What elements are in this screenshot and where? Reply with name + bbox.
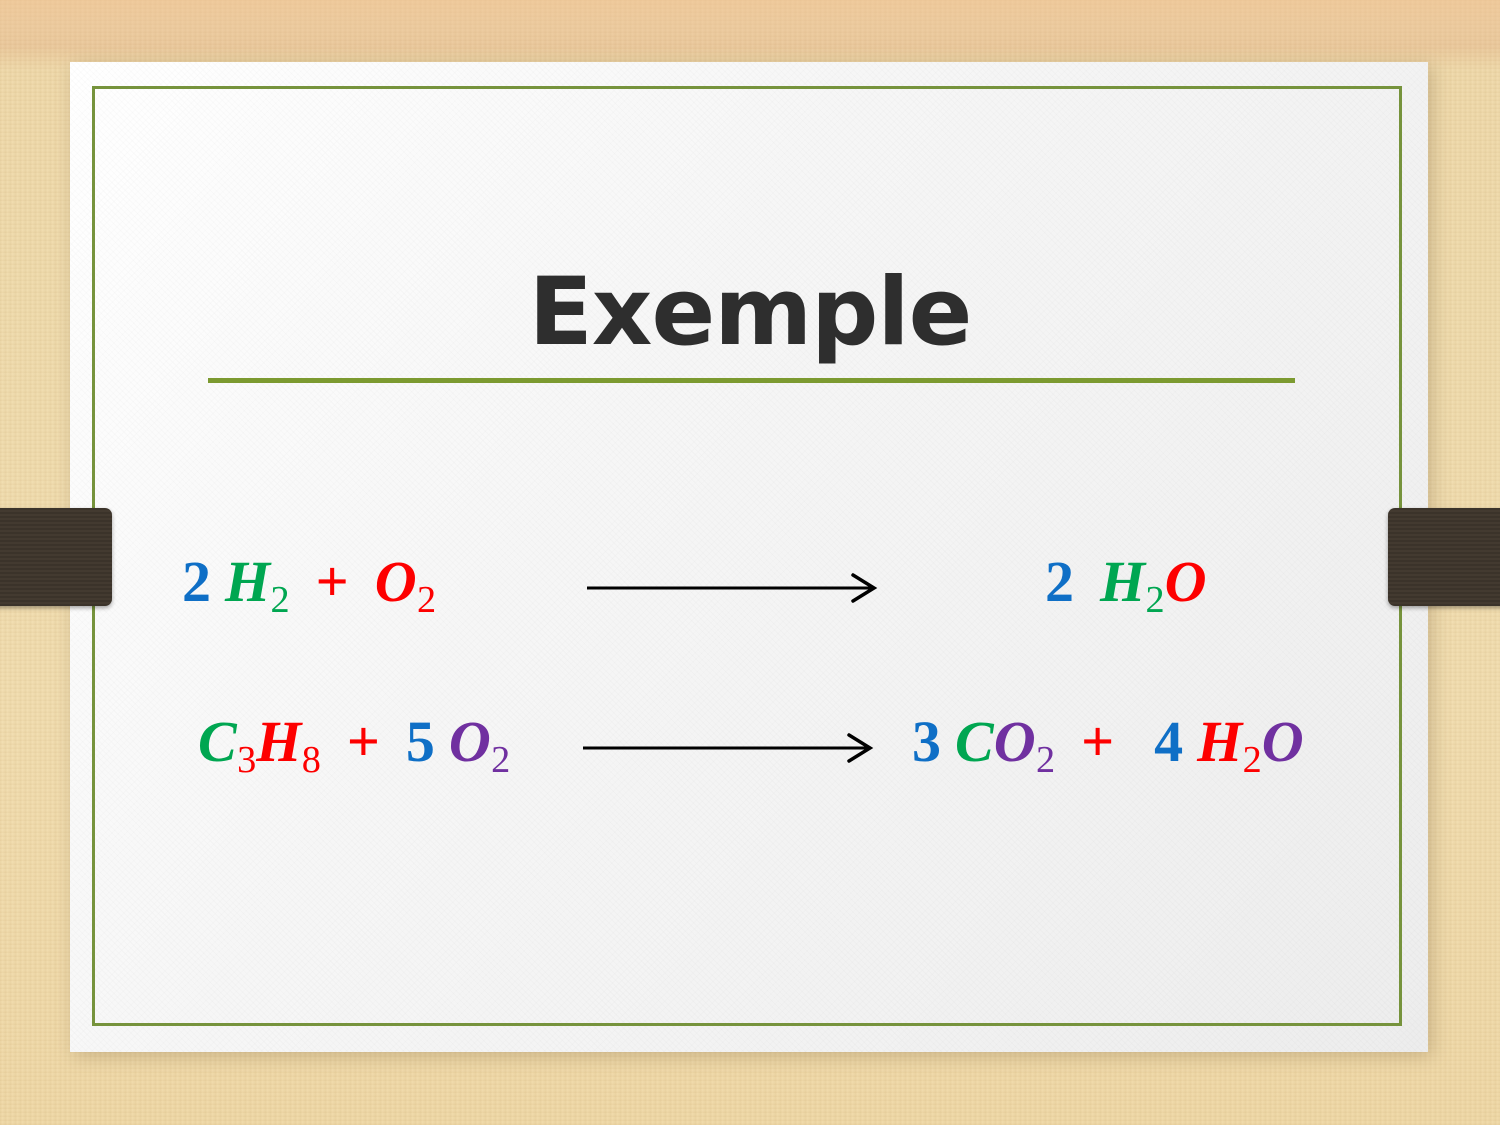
eq2-coefficient-o2: 5 xyxy=(406,709,435,774)
eq2-product-subscript-o: 2 xyxy=(1036,739,1055,781)
eq2-operator-plus-2: + xyxy=(1081,709,1114,774)
slide: Exemple 2H2+O2 2H2O C3H8+5O2 3CO2+4H2O xyxy=(0,0,1500,1125)
equation-2-products: 3CO2+4H2O xyxy=(912,713,1304,780)
eq1-operator-plus: + xyxy=(316,549,349,614)
eq2-symbol-c: C xyxy=(198,709,237,774)
eq1-product-coefficient: 2 xyxy=(1045,549,1074,614)
eq2-product-symbol-h: H xyxy=(1197,709,1242,774)
eq1-product-subscript-h: 2 xyxy=(1146,579,1165,621)
equation-2-reactants: C3H8+5O2 xyxy=(198,713,510,780)
eq1-subscript-o: 2 xyxy=(417,579,436,621)
eq2-product-coefficient-co2: 3 xyxy=(912,709,941,774)
eq1-symbol-o: O xyxy=(375,549,417,614)
eq2-product-symbol-c: C xyxy=(955,709,994,774)
title-underline xyxy=(208,378,1295,383)
eq1-product-symbol-h: H xyxy=(1100,549,1145,614)
eq1-product-symbol-o: O xyxy=(1165,549,1207,614)
eq2-subscript-h: 8 xyxy=(302,739,321,781)
eq2-symbol-h: H xyxy=(256,709,301,774)
right-arrow-icon-equation-2 xyxy=(575,730,875,770)
eq2-product-subscript-h: 2 xyxy=(1243,739,1262,781)
eq2-symbol-o: O xyxy=(449,709,491,774)
ribbon-tab-left xyxy=(0,508,112,606)
eq1-coefficient-h2: 2 xyxy=(182,549,211,614)
eq2-subscript-c: 3 xyxy=(237,739,256,781)
eq2-product-coefficient-h2o: 4 xyxy=(1154,709,1183,774)
eq2-operator-plus: + xyxy=(347,709,380,774)
eq1-subscript-h: 2 xyxy=(271,579,290,621)
equation-1-products: 2H2O xyxy=(1045,553,1207,620)
page-title: Exemple xyxy=(0,258,1500,367)
eq2-product-symbol-o: O xyxy=(994,709,1036,774)
ribbon-tab-right xyxy=(1388,508,1500,606)
eq2-product-symbol-o2: O xyxy=(1262,709,1304,774)
right-arrow-icon-equation-1 xyxy=(587,570,879,610)
equation-1: 2H2+O2 xyxy=(182,553,436,620)
eq1-symbol-h: H xyxy=(225,549,270,614)
eq2-subscript-o: 2 xyxy=(491,739,510,781)
wood-top-highlight-band xyxy=(0,0,1500,58)
